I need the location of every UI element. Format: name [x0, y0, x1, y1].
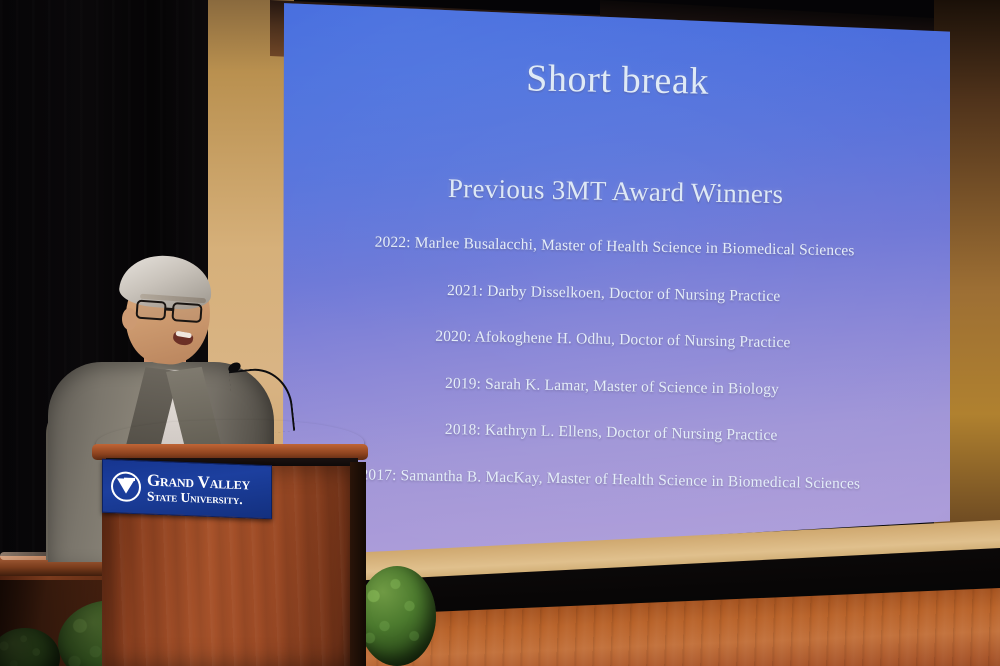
university-sign: Grand Valley State University.	[102, 459, 272, 520]
slide-title: Short break	[281, 52, 950, 108]
eyeglasses-lens-left	[135, 300, 166, 321]
eyeglasses-lens-right	[171, 302, 202, 323]
lectern-side-panel	[350, 462, 366, 666]
logo-bar	[124, 478, 135, 481]
list-item: 2020: Afokoghene H. Odhu, Doctor of Nurs…	[278, 326, 949, 354]
list-item: 2017: Samantha B. MacKay, Master of Heal…	[278, 465, 946, 493]
list-item: 2018: Kathryn L. Ellens, Doctor of Nursi…	[278, 419, 947, 447]
list-item: 2019: Sarah K. Lamar, Master of Science …	[278, 372, 948, 400]
presentation-scene: Short break Previous 3MT Award Winners 2…	[0, 0, 1000, 666]
university-sign-text: Grand Valley State University.	[147, 472, 250, 507]
projection-screen: Short break Previous 3MT Award Winners 2…	[278, 0, 950, 564]
list-item: 2022: Marlee Busalacchi, Master of Healt…	[279, 233, 950, 261]
list-item: 2021: Darby Disselkoen, Doctor of Nursin…	[278, 279, 950, 307]
slide-content: Short break Previous 3MT Award Winners 2…	[278, 0, 950, 564]
university-name-line2: State University.	[147, 490, 250, 507]
lectern	[88, 418, 370, 666]
grand-valley-logo-icon	[111, 471, 141, 502]
slide-subtitle: Previous 3MT Award Winners	[279, 170, 950, 213]
award-winners-list: 2022: Marlee Busalacchi, Master of Healt…	[278, 233, 950, 524]
